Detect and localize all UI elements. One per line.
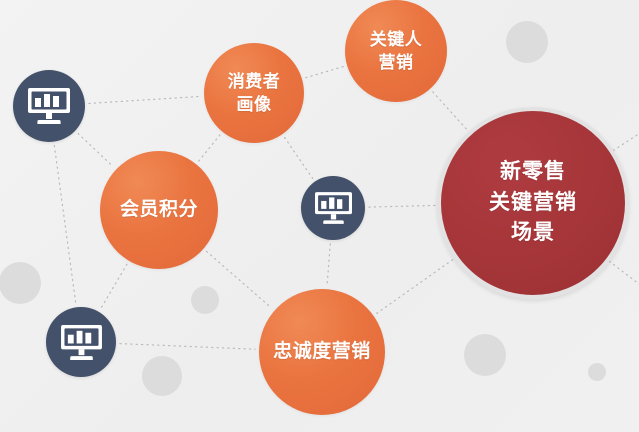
connector-line xyxy=(369,205,437,207)
topic-node-label: 关键人 营销 xyxy=(366,28,427,75)
connector-line xyxy=(101,264,127,308)
icon-node-monitor-3[interactable] xyxy=(46,307,116,377)
connector-line xyxy=(285,138,313,179)
connector-line xyxy=(306,67,343,78)
decorative-circle xyxy=(0,262,41,304)
decorative-circle xyxy=(464,334,506,376)
topic-node-key-person-marketing[interactable]: 关键人 营销 xyxy=(345,0,447,102)
connector-line xyxy=(609,261,639,297)
connector-line xyxy=(377,258,455,313)
decorative-circle xyxy=(191,286,219,314)
decorative-circle xyxy=(142,356,182,396)
topic-node-label: 会员积分 xyxy=(116,197,202,223)
connector-line xyxy=(78,133,113,166)
connector-line xyxy=(433,92,469,132)
connector-line xyxy=(613,122,639,150)
topic-node-label: 消费者 画像 xyxy=(224,70,285,117)
connector-line xyxy=(327,244,330,285)
topic-node-label: 忠诚度营销 xyxy=(269,339,375,365)
hub-node-new-retail-key-marketing-scenarios[interactable]: 新零售 关键营销 场景 xyxy=(437,107,629,299)
connector-line xyxy=(120,344,255,350)
connector-line xyxy=(199,135,220,161)
decorative-circle xyxy=(506,21,548,63)
connector-line xyxy=(54,146,75,304)
icon-node-monitor-2[interactable] xyxy=(301,176,365,240)
decorative-circle xyxy=(588,363,606,381)
monitor-bar-chart-icon xyxy=(28,87,70,125)
icon-node-monitor-1[interactable] xyxy=(13,70,85,142)
connector-line xyxy=(89,96,200,103)
monitor-bar-chart-icon xyxy=(315,191,352,225)
topic-node-loyalty-marketing[interactable]: 忠诚度营销 xyxy=(259,289,385,415)
diagram-canvas: 消费者 画像 关键人 营销 会员积分 忠诚度营销 新零售 关键营销 场景 xyxy=(0,0,639,432)
monitor-bar-chart-icon xyxy=(61,324,102,361)
topic-node-consumer-profile[interactable]: 消费者 画像 xyxy=(204,43,304,143)
topic-node-member-points[interactable]: 会员积分 xyxy=(100,151,218,269)
hub-node-label: 新零售 关键营销 场景 xyxy=(485,157,581,248)
